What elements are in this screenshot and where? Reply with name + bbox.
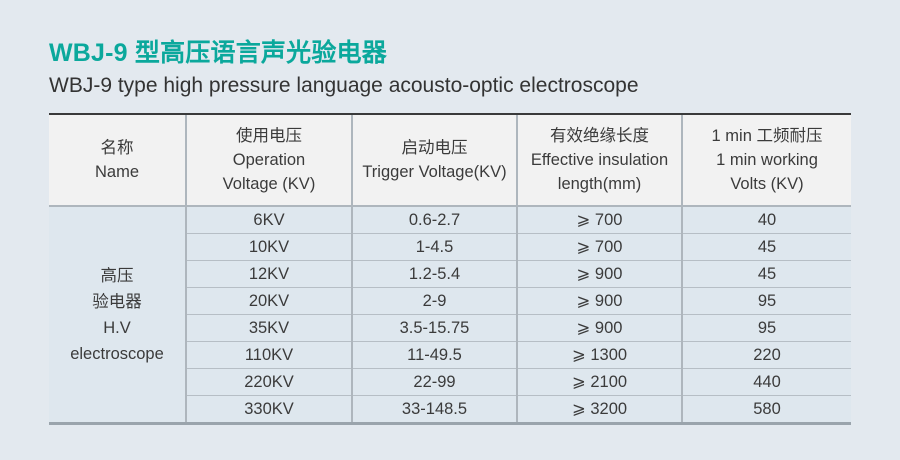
- column-header-trigger-voltage-en1: Trigger Voltage(KV): [353, 160, 516, 184]
- product-name-line-4: electroscope: [49, 341, 185, 367]
- column-header-name-en1: Name: [49, 160, 185, 184]
- spec-table-body: 高压验电器H.Velectroscope6KV0.6-2.7⩾ 7004010K…: [49, 206, 851, 422]
- product-spec-page: WBJ-9 型高压语言声光验电器 WBJ-9 type high pressur…: [0, 0, 900, 460]
- cell-operation-voltage: 12KV: [186, 261, 352, 288]
- table-row: 高压验电器H.Velectroscope6KV0.6-2.7⩾ 70040: [49, 206, 851, 234]
- column-header-insulation-length-cn: 有效绝缘长度: [518, 124, 681, 148]
- column-header-operation-voltage-en2: Voltage (KV): [187, 172, 351, 196]
- cell-operation-voltage: 110KV: [186, 342, 352, 369]
- cell-product-name: 高压验电器H.Velectroscope: [49, 206, 186, 422]
- cell-insulation-length: ⩾ 700: [517, 234, 682, 261]
- column-header-operation-voltage: 使用电压 Operation Voltage (KV): [186, 115, 352, 206]
- page-title-chinese: WBJ-9 型高压语言声光验电器: [49, 38, 869, 68]
- page-title-english: WBJ-9 type high pressure language acoust…: [49, 72, 869, 100]
- column-header-insulation-length: 有效绝缘长度 Effective insulation length(mm): [517, 115, 682, 206]
- column-header-operation-voltage-en1: Operation: [187, 148, 351, 172]
- cell-operation-voltage: 6KV: [186, 206, 352, 234]
- cell-trigger-voltage: 33-148.5: [352, 396, 517, 423]
- column-header-trigger-voltage-cn: 启动电压: [353, 136, 516, 160]
- cell-working-volts: 45: [682, 261, 851, 288]
- cell-trigger-voltage: 1-4.5: [352, 234, 517, 261]
- column-header-insulation-length-en1: Effective insulation: [518, 148, 681, 172]
- cell-trigger-voltage: 2-9: [352, 288, 517, 315]
- cell-insulation-length: ⩾ 900: [517, 315, 682, 342]
- spec-table-head: 名称 Name 使用电压 Operation Voltage (KV) 启动电压…: [49, 115, 851, 206]
- column-header-working-volts-en2: Volts (KV): [683, 172, 851, 196]
- cell-trigger-voltage: 0.6-2.7: [352, 206, 517, 234]
- column-header-working-volts-cn: 1 min 工频耐压: [683, 124, 851, 148]
- cell-operation-voltage: 10KV: [186, 234, 352, 261]
- cell-operation-voltage: 20KV: [186, 288, 352, 315]
- column-header-trigger-voltage: 启动电压 Trigger Voltage(KV): [352, 115, 517, 206]
- cell-working-volts: 95: [682, 288, 851, 315]
- table-header-row: 名称 Name 使用电压 Operation Voltage (KV) 启动电压…: [49, 115, 851, 206]
- cell-insulation-length: ⩾ 3200: [517, 396, 682, 423]
- product-name-line-3: H.V: [49, 315, 185, 341]
- cell-trigger-voltage: 3.5-15.75: [352, 315, 517, 342]
- cell-working-volts: 45: [682, 234, 851, 261]
- cell-operation-voltage: 220KV: [186, 369, 352, 396]
- cell-operation-voltage: 330KV: [186, 396, 352, 423]
- cell-insulation-length: ⩾ 700: [517, 206, 682, 234]
- column-header-working-volts: 1 min 工频耐压 1 min working Volts (KV): [682, 115, 851, 206]
- cell-working-volts: 220: [682, 342, 851, 369]
- cell-insulation-length: ⩾ 1300: [517, 342, 682, 369]
- cell-working-volts: 95: [682, 315, 851, 342]
- title-block: WBJ-9 型高压语言声光验电器 WBJ-9 type high pressur…: [49, 38, 869, 100]
- column-header-name: 名称 Name: [49, 115, 186, 206]
- cell-working-volts: 580: [682, 396, 851, 423]
- column-header-name-cn: 名称: [49, 136, 185, 160]
- product-name-line-2: 验电器: [49, 289, 185, 315]
- product-name-line-1: 高压: [49, 263, 185, 289]
- cell-working-volts: 40: [682, 206, 851, 234]
- cell-insulation-length: ⩾ 900: [517, 261, 682, 288]
- cell-trigger-voltage: 22-99: [352, 369, 517, 396]
- spec-table: 名称 Name 使用电压 Operation Voltage (KV) 启动电压…: [49, 115, 851, 422]
- cell-insulation-length: ⩾ 900: [517, 288, 682, 315]
- column-header-insulation-length-en2: length(mm): [518, 172, 681, 196]
- cell-trigger-voltage: 11-49.5: [352, 342, 517, 369]
- column-header-working-volts-en1: 1 min working: [683, 148, 851, 172]
- column-header-operation-voltage-cn: 使用电压: [187, 124, 351, 148]
- cell-operation-voltage: 35KV: [186, 315, 352, 342]
- cell-insulation-length: ⩾ 2100: [517, 369, 682, 396]
- cell-working-volts: 440: [682, 369, 851, 396]
- cell-trigger-voltage: 1.2-5.4: [352, 261, 517, 288]
- spec-table-container: 名称 Name 使用电压 Operation Voltage (KV) 启动电压…: [49, 113, 851, 425]
